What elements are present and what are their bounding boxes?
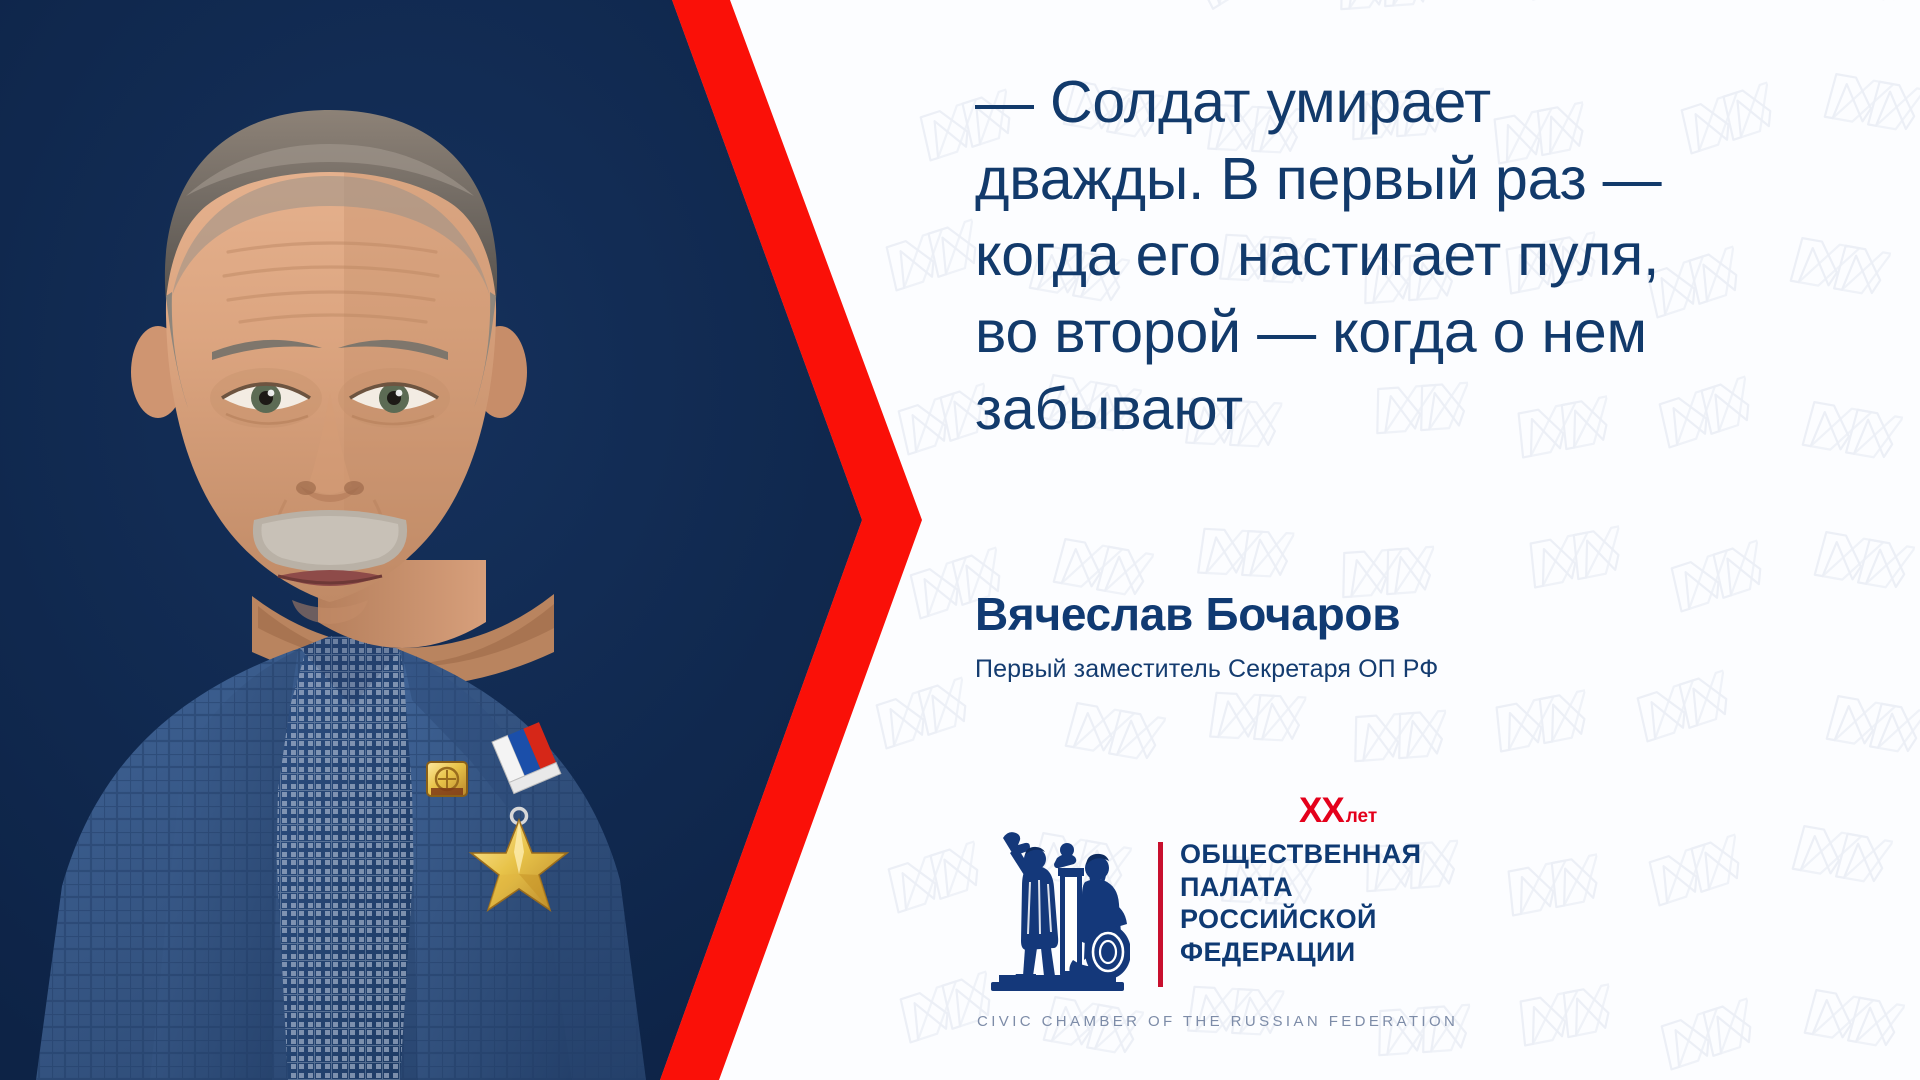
xx-watermark-icon	[869, 670, 982, 766]
logo-line-3: РОССИЙСКОЙ	[1180, 903, 1421, 936]
portrait-photo	[0, 0, 905, 1080]
person-name: Вячеслав Бочаров	[975, 587, 1400, 641]
logo-line-4: ФЕДЕРАЦИИ	[1180, 936, 1421, 969]
civic-chamber-emblem-icon	[985, 810, 1130, 1000]
portrait-panel	[0, 0, 905, 1080]
quote-card: — Солдат умирает дважды. В первый раз — …	[0, 0, 1920, 1080]
logo-line-2: ПАЛАТА	[1180, 871, 1421, 904]
quote-text: — Солдат умирает дважды. В первый раз — …	[975, 64, 1675, 447]
logo-wordmark: ОБЩЕСТВЕННАЯ ПАЛАТА РОССИЙСКОЙ ФЕДЕРАЦИИ	[1180, 838, 1421, 969]
anniversary-badge: XXлет	[1299, 791, 1377, 831]
person-role: Первый заместитель Секретаря ОП РФ	[975, 655, 1438, 684]
organization-logo: XXлет ОБЩЕСТВЕННАЯ ПАЛАТА РОССИЙСКОЙ ФЕД…	[975, 790, 1535, 1040]
logo-divider	[1158, 842, 1163, 987]
logo-line-1: ОБЩЕСТВЕННАЯ	[1180, 838, 1421, 871]
content-column: — Солдат умирает дважды. В первый раз — …	[975, 0, 1875, 1080]
anniversary-word: лет	[1346, 806, 1377, 827]
logo-english-subtitle: CIVIC CHAMBER OF THE RUSSIAN FEDERATION	[977, 1013, 1458, 1030]
anniversary-number: XX	[1299, 791, 1344, 830]
